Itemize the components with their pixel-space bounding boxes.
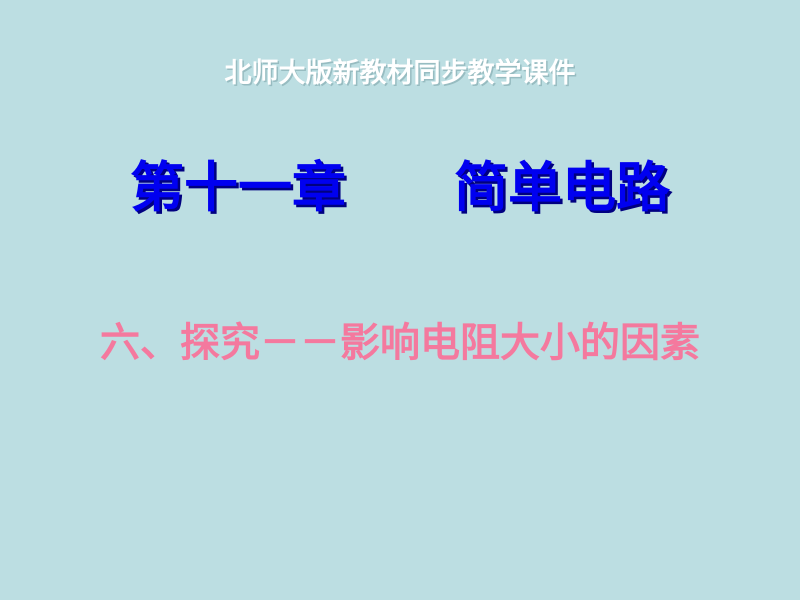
presentation-slide: 北师大版新教材同步教学课件 第十一章 简单电路 六、探究－－影响电阻大小的因素 xyxy=(0,0,800,600)
slide-header-text: 北师大版新教材同步教学课件 xyxy=(0,56,800,90)
slide-empty-body-area xyxy=(0,390,800,600)
slide-subtitle: 六、探究－－影响电阻大小的因素 xyxy=(0,318,800,368)
slide-chapter-title: 第十一章 简单电路 xyxy=(0,156,800,220)
